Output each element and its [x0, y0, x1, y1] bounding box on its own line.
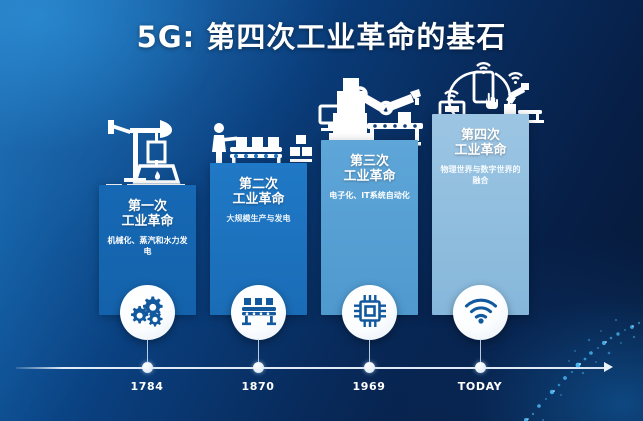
card-title: 第一次 工业革命 — [99, 199, 196, 229]
timeline-node-4[interactable] — [475, 362, 486, 373]
card-subtitle: 机械化、蒸汽和水力发电 — [99, 236, 196, 257]
timeline-arrow-icon — [604, 362, 613, 372]
timeline-year-2: 1870 — [213, 380, 303, 393]
microchip-icon — [354, 295, 386, 331]
timeline-node-1[interactable] — [142, 362, 153, 373]
card-subtitle: 大规模生产与发电 — [210, 214, 307, 224]
timeline-axis — [16, 367, 606, 369]
card-title: 第三次 工业革命 — [321, 154, 418, 184]
card-subtitle: 电子化、IT系统自动化 — [321, 191, 418, 201]
circle-badge-4[interactable] — [453, 285, 508, 340]
circle-badge-2[interactable] — [231, 285, 286, 340]
slide-canvas: 5G: 第四次工业革命的基石 — [0, 0, 643, 421]
steam-engine-icon — [100, 116, 195, 192]
timeline-year-1: 1784 — [102, 380, 192, 393]
card-title: 第二次 工业革命 — [210, 177, 307, 207]
gears-icon — [131, 295, 165, 331]
timeline-node-2[interactable] — [253, 362, 264, 373]
timeline-year-4: TODAY — [435, 380, 525, 393]
page-title: 5G: 第四次工业革命的基石 — [0, 14, 643, 56]
circle-badge-3[interactable] — [342, 285, 397, 340]
conveyor-belt-icon — [241, 296, 277, 330]
timeline-node-3[interactable] — [364, 362, 375, 373]
card-title: 第四次 工业革命 — [432, 128, 529, 158]
wifi-icon — [464, 298, 498, 328]
card-subtitle: 物理世界与数字世界的融合 — [432, 165, 529, 186]
timeline-year-3: 1969 — [324, 380, 414, 393]
circle-badge-1[interactable] — [120, 285, 175, 340]
